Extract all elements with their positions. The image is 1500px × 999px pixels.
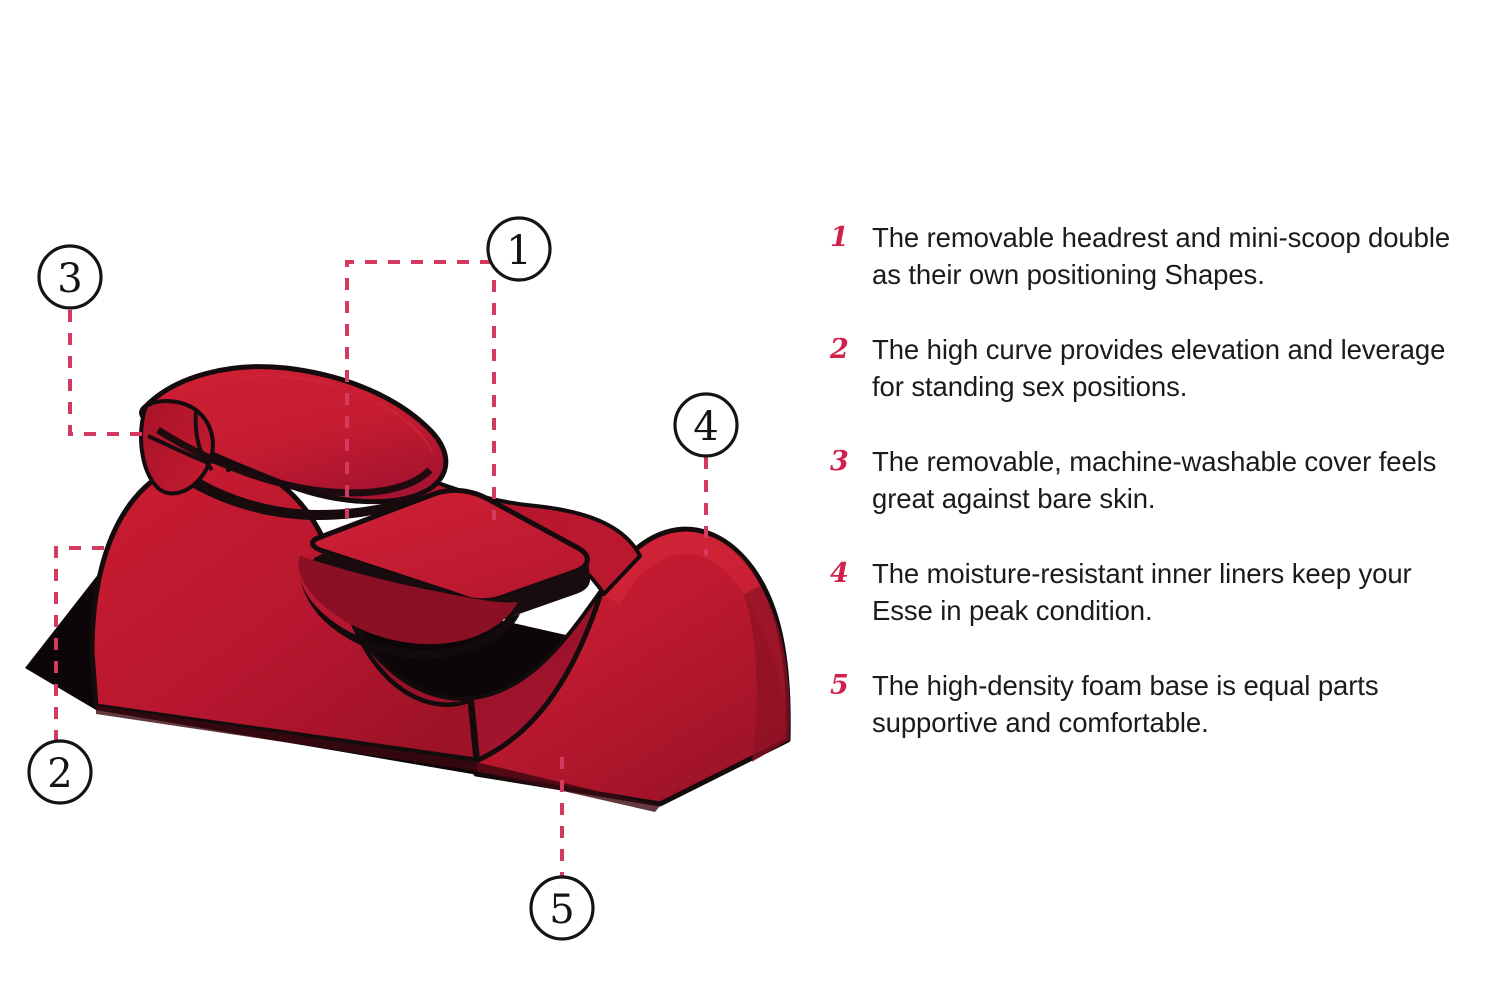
feature-text: The moisture-resistant inner liners keep…	[872, 555, 1466, 629]
callout-badge-1[interactable]: 1	[488, 218, 550, 280]
callout-badge-1-label: 1	[506, 228, 531, 274]
feature-number: 3	[826, 443, 872, 480]
callout-badge-3[interactable]: 3	[39, 246, 101, 308]
feature-list: 1 The removable headrest and mini-scoop …	[826, 219, 1466, 741]
callout-badge-4[interactable]: 4	[675, 394, 737, 456]
callout-badge-2[interactable]: 2	[29, 741, 91, 803]
feature-number: 4	[826, 555, 872, 592]
list-item: 1 The removable headrest and mini-scoop …	[826, 219, 1466, 293]
feature-text: The high-density foam base is equal part…	[872, 667, 1466, 741]
callout-badge-2-label: 2	[47, 751, 72, 797]
feature-number: 5	[826, 667, 872, 704]
callout-badge-5[interactable]: 5	[531, 877, 593, 939]
feature-text: The removable headrest and mini-scoop do…	[872, 219, 1466, 293]
feature-number: 1	[826, 219, 872, 256]
feature-text: The high curve provides elevation and le…	[872, 331, 1466, 405]
feature-list-pane: 1 The removable headrest and mini-scoop …	[810, 0, 1500, 999]
callout-badge-4-label: 4	[693, 404, 718, 450]
list-item: 4 The moisture-resistant inner liners ke…	[826, 555, 1466, 629]
feature-number: 2	[826, 331, 872, 368]
product-illustration-pane: Red upholstered curved lounger with remo…	[0, 0, 810, 999]
callout-badge-5-label: 5	[549, 887, 574, 933]
list-item: 2 The high curve provides elevation and …	[826, 331, 1466, 405]
callout-badge-3-label: 3	[57, 256, 82, 302]
list-item: 5 The high-density foam base is equal pa…	[826, 667, 1466, 741]
esse-lounger-illustration: Red upholstered curved lounger with remo…	[0, 0, 810, 999]
list-item: 3 The removable, machine-washable cover …	[826, 443, 1466, 517]
feature-text: The removable, machine-washable cover fe…	[872, 443, 1466, 517]
product-feature-infographic: Red upholstered curved lounger with remo…	[0, 0, 1500, 999]
